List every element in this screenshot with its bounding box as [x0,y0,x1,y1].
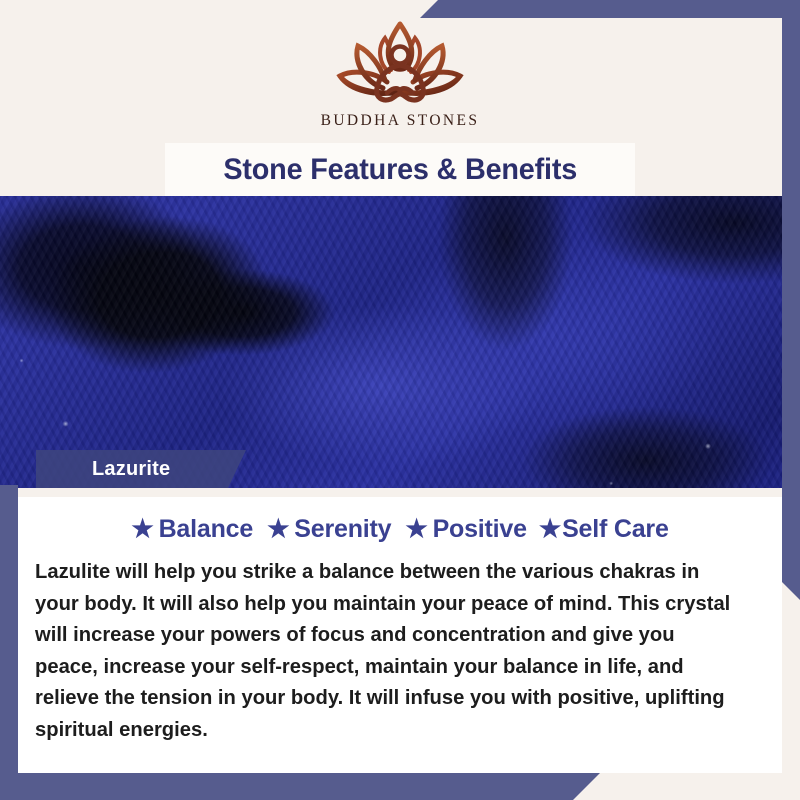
keyword-label: Self Care [562,515,669,544]
title-banner: Stone Features & Benefits [165,143,635,196]
lotus-meditation-icon [307,14,493,110]
keyword-self-care: ★ Self Care [539,515,669,544]
panel-top-strip [18,488,782,497]
decor-band-bottom-left [0,773,600,800]
description-panel: ★ Balance ★ Serenity ★ Positive ★ Self C… [18,488,782,773]
poster: BUDDHA STONES Stone Features & Benefits … [0,0,800,800]
stone-name: Lazurite [36,458,210,481]
brand-logo: BUDDHA STONES [0,14,800,130]
stone-description: Lazulite will help you strike a balance … [35,556,740,745]
star-icon: ★ [539,517,561,542]
page-title: Stone Features & Benefits [223,153,577,187]
keyword-label: Serenity [294,515,391,544]
keyword-balance: ★ Balance [131,515,253,544]
decor-band-right [782,0,800,600]
keyword-label: Balance [159,515,254,544]
star-icon: ★ [405,517,427,542]
decor-band-left [0,485,18,800]
stone-photo [0,196,800,488]
star-icon: ★ [267,517,289,542]
star-icon: ★ [131,517,153,542]
keyword-positive: ★ Positive [405,515,527,544]
keyword-serenity: ★ Serenity [267,515,391,544]
photo-speckle-layer [0,196,800,488]
decor-band-top-right [420,0,800,18]
brand-name: BUDDHA STONES [0,112,800,130]
keyword-label: Positive [433,515,527,544]
stone-name-tag: Lazurite [36,450,246,488]
keyword-list: ★ Balance ★ Serenity ★ Positive ★ Self C… [18,515,782,544]
